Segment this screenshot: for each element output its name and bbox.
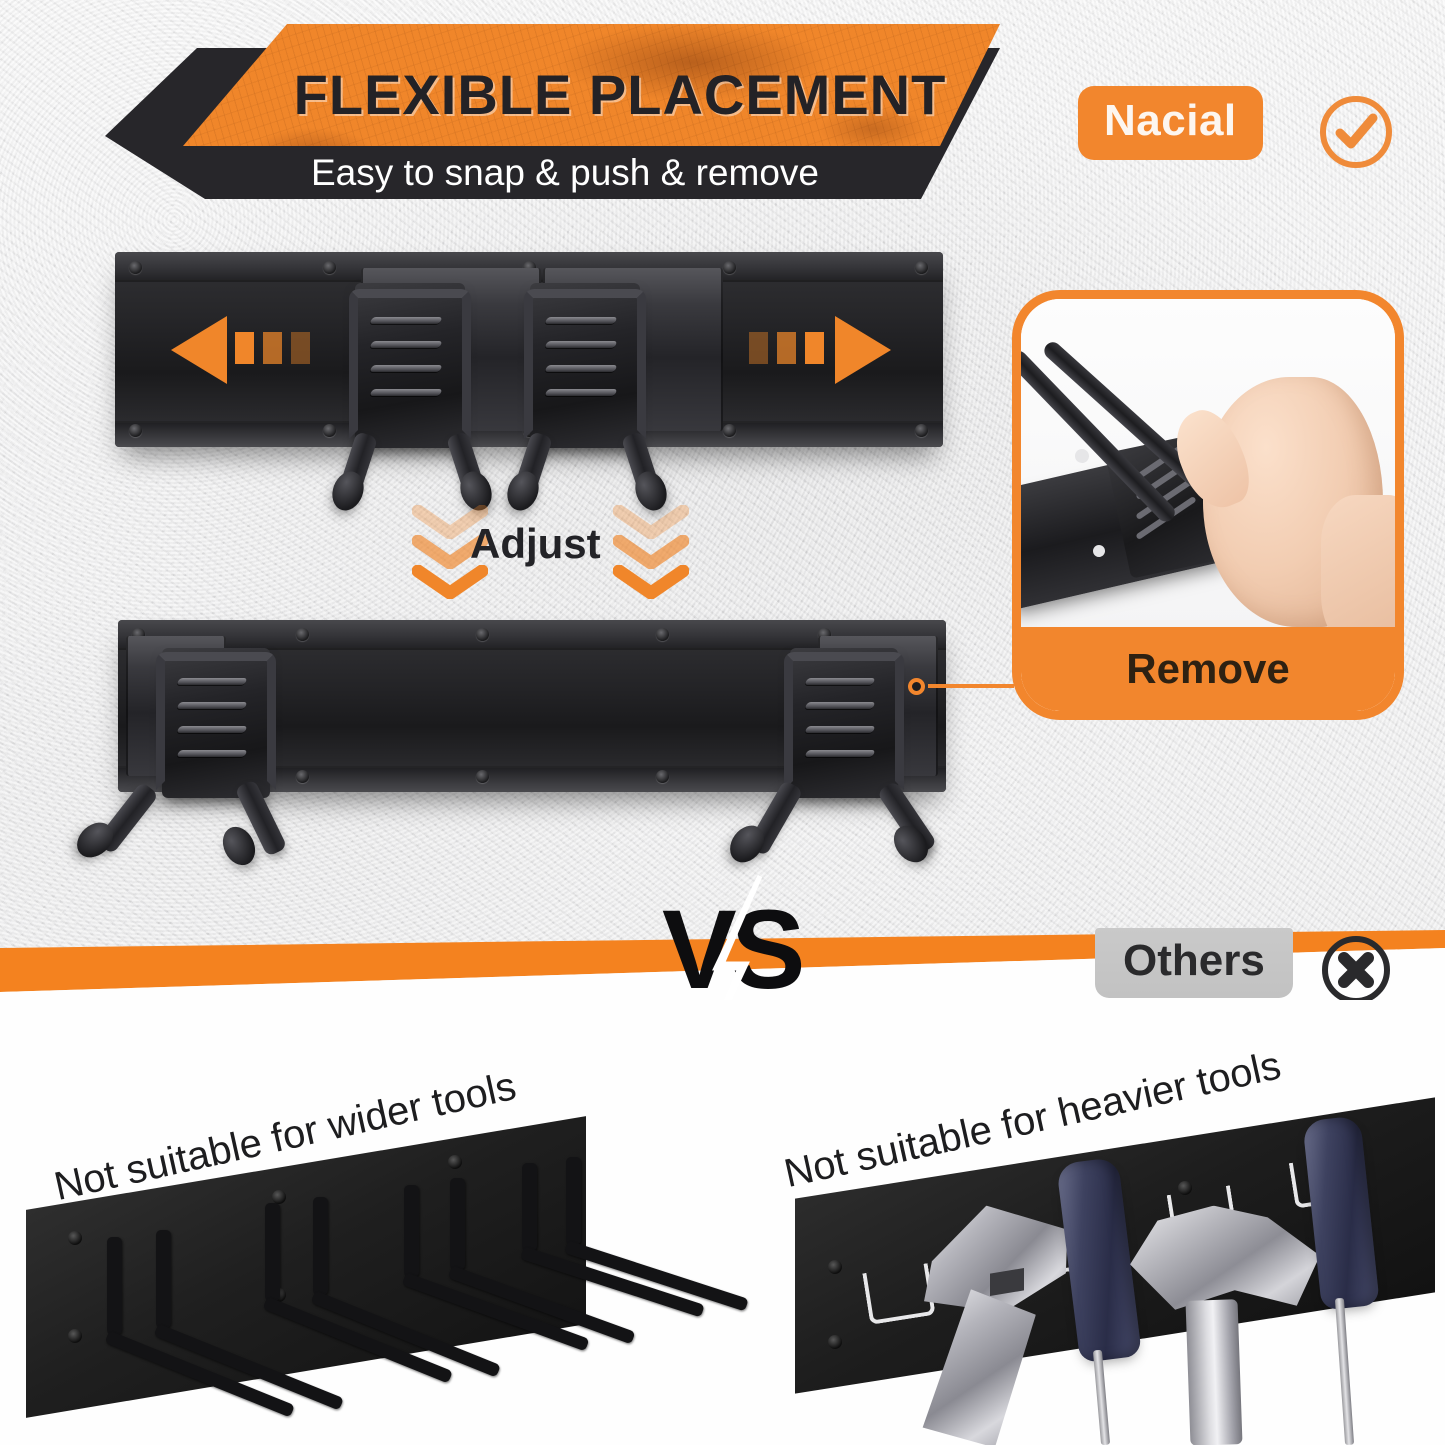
adjust-chevrons-right [613,505,689,601]
remove-label: Remove [1021,627,1395,711]
plate-screw [828,1260,842,1274]
page-title: FLEXIBLE PLACEMENT [280,62,960,127]
others-badge: Others [1095,928,1293,998]
thin-prong [313,1197,328,1295]
callout-anchor-dot [908,678,925,695]
brand-badge: Nacial [1078,86,1263,160]
hook-assembly [530,283,640,448]
callout-leader-line [928,684,1014,688]
plate-screw [68,1231,82,1245]
rail-screw [723,424,736,437]
remove-callout-panel: Remove [1012,290,1404,720]
slide-left-arrow-icon [171,314,361,382]
thin-prong [156,1230,171,1328]
rail-screw [476,628,489,641]
plate-screw [448,1155,462,1169]
wire-hook [862,1263,935,1325]
rail-screw [129,424,142,437]
thin-prong [107,1237,122,1335]
slide-right-arrow-icon [727,314,917,382]
rail-screw [915,261,928,274]
rail-screw [296,628,309,641]
check-circle-icon [1316,92,1396,172]
plate-screw [68,1329,82,1343]
wrist [1321,495,1395,637]
page-subtitle: Easy to snap & push & remove [215,152,915,194]
plate-screw [828,1335,842,1349]
infographic-canvas: FLEXIBLE PLACEMENT Easy to snap & push &… [0,0,1445,1445]
x-circle-icon [1318,932,1394,1008]
header-ribbon: FLEXIBLE PLACEMENT Easy to snap & push &… [95,24,1000,199]
thin-prong [522,1163,537,1251]
hammer-handle [1185,1299,1242,1445]
rail-screw [915,424,928,437]
thin-prong [265,1203,280,1301]
rail-screw [129,261,142,274]
plate-screw [272,1190,286,1204]
remove-photo [1021,299,1395,637]
hook-assembly [162,648,270,798]
thin-prong [404,1185,419,1277]
rail-screw [656,628,669,641]
rail-screw [323,424,336,437]
rail-screw [296,770,309,783]
adjust-label: Adjust [470,520,601,568]
rail-screw [723,261,736,274]
thin-prong [450,1178,465,1270]
rail-screw [656,770,669,783]
hook-assembly [790,648,898,798]
rail-screw [476,770,489,783]
thin-prong [566,1157,581,1245]
rail-screw [323,261,336,274]
hook-assembly [355,283,465,448]
